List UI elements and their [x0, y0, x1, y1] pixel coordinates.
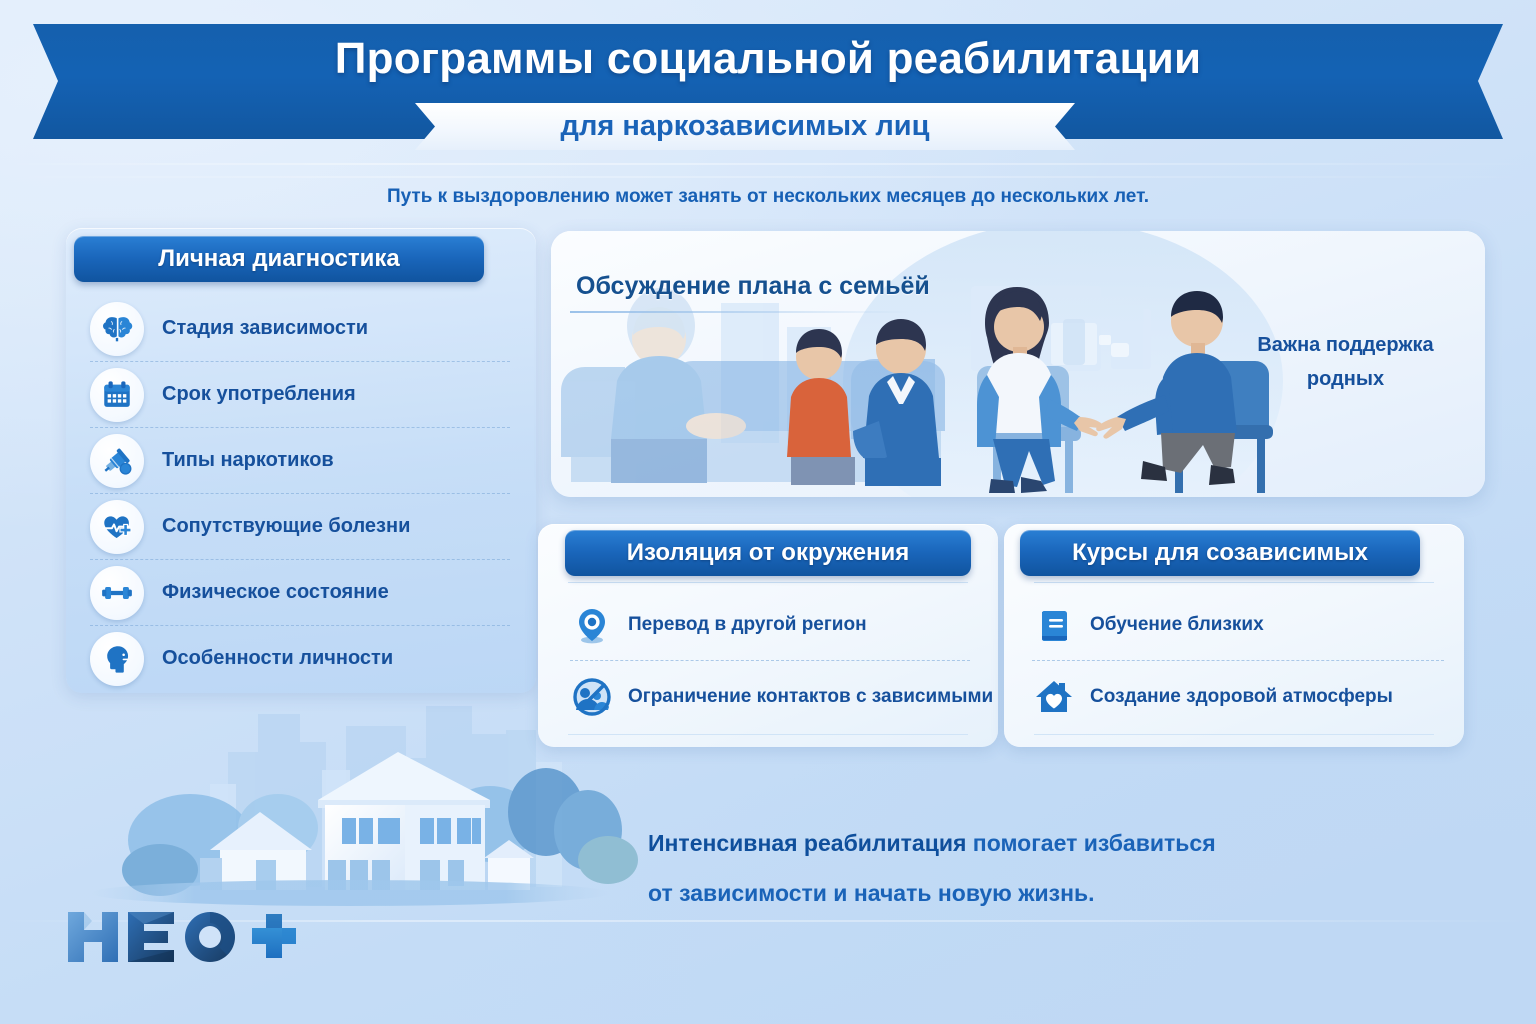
head-profile-icon	[90, 632, 144, 686]
footer-strong: Интенсивная реабилитация	[648, 830, 966, 856]
list-item[interactable]: Ограничение контактов с зависимыми	[570, 662, 970, 732]
list-item[interactable]: Срок употребления	[90, 362, 510, 428]
list-item-label: Физическое состояние	[162, 581, 389, 604]
list-item-label: Обучение близких	[1090, 614, 1264, 636]
list-item-label: Срок употребления	[162, 383, 356, 406]
list-item[interactable]: Перевод в другой регион	[570, 590, 970, 661]
list-item-label: Создание здоровой атмосферы	[1090, 686, 1393, 708]
heart-cross-icon	[90, 500, 144, 554]
footer-rest: помогает избавиться	[966, 830, 1215, 856]
list-item[interactable]: Обучение близких	[1032, 590, 1444, 661]
list-item-label: Ограничение контактов с зависимыми	[628, 686, 993, 708]
background-sweep-line	[0, 176, 1536, 178]
list-item[interactable]: Физическое состояние	[90, 560, 510, 626]
card-divider	[568, 734, 968, 735]
house-heart-icon	[1032, 675, 1076, 719]
list-item-label: Типы наркотиков	[162, 449, 334, 472]
dumbbell-icon	[90, 566, 144, 620]
card-divider	[1034, 582, 1434, 583]
list-item-label: Перевод в другой регион	[628, 614, 867, 636]
card-divider	[1034, 734, 1434, 735]
card-divider	[568, 582, 968, 583]
no-contacts-icon	[570, 675, 614, 719]
diagnostics-list: Стадия зависимости Срок употребления Тип…	[90, 296, 510, 691]
list-item-label: Стадия зависимости	[162, 317, 368, 340]
calendar-icon	[90, 368, 144, 422]
intro-text: Путь к выздоровлению может занять от нес…	[0, 186, 1536, 208]
page-title: Программы социальной реабилитации	[0, 34, 1536, 84]
hero-title: Обсуждение плана с семьёй	[576, 272, 930, 301]
brain-icon	[90, 302, 144, 356]
location-pin-icon	[570, 603, 614, 647]
isolation-card-badge: Изоляция от окружения	[565, 530, 971, 576]
page-subtitle: для наркозависимых лиц	[415, 110, 1075, 143]
list-item-label: Сопутствующие болезни	[162, 515, 410, 538]
left-panel-badge: Личная диагностика	[74, 236, 484, 282]
footer-line2: от зависимости и начать новую жизнь.	[648, 868, 1408, 918]
infographic-canvas: Программы социальной реабилитации для на…	[0, 0, 1536, 1024]
book-icon	[1032, 603, 1076, 647]
background-sweep-line	[0, 163, 1536, 165]
syringe-icon	[90, 434, 144, 488]
neo-plus-logo	[62, 906, 312, 968]
codependent-courses-card-badge: Курсы для созависимых	[1020, 530, 1420, 576]
list-item[interactable]: Создание здоровой атмосферы	[1032, 662, 1444, 732]
footer-message: Интенсивная реабилитация помогает избави…	[648, 818, 1408, 918]
list-item[interactable]: Сопутствующие болезни	[90, 494, 510, 560]
list-item-label: Особенности личности	[162, 647, 393, 670]
list-item[interactable]: Стадия зависимости	[90, 296, 510, 362]
hero-divider	[570, 311, 910, 313]
list-item[interactable]: Особенности личности	[90, 626, 510, 691]
list-item[interactable]: Типы наркотиков	[90, 428, 510, 494]
hero-note: Важна поддержка родных	[1228, 328, 1463, 396]
